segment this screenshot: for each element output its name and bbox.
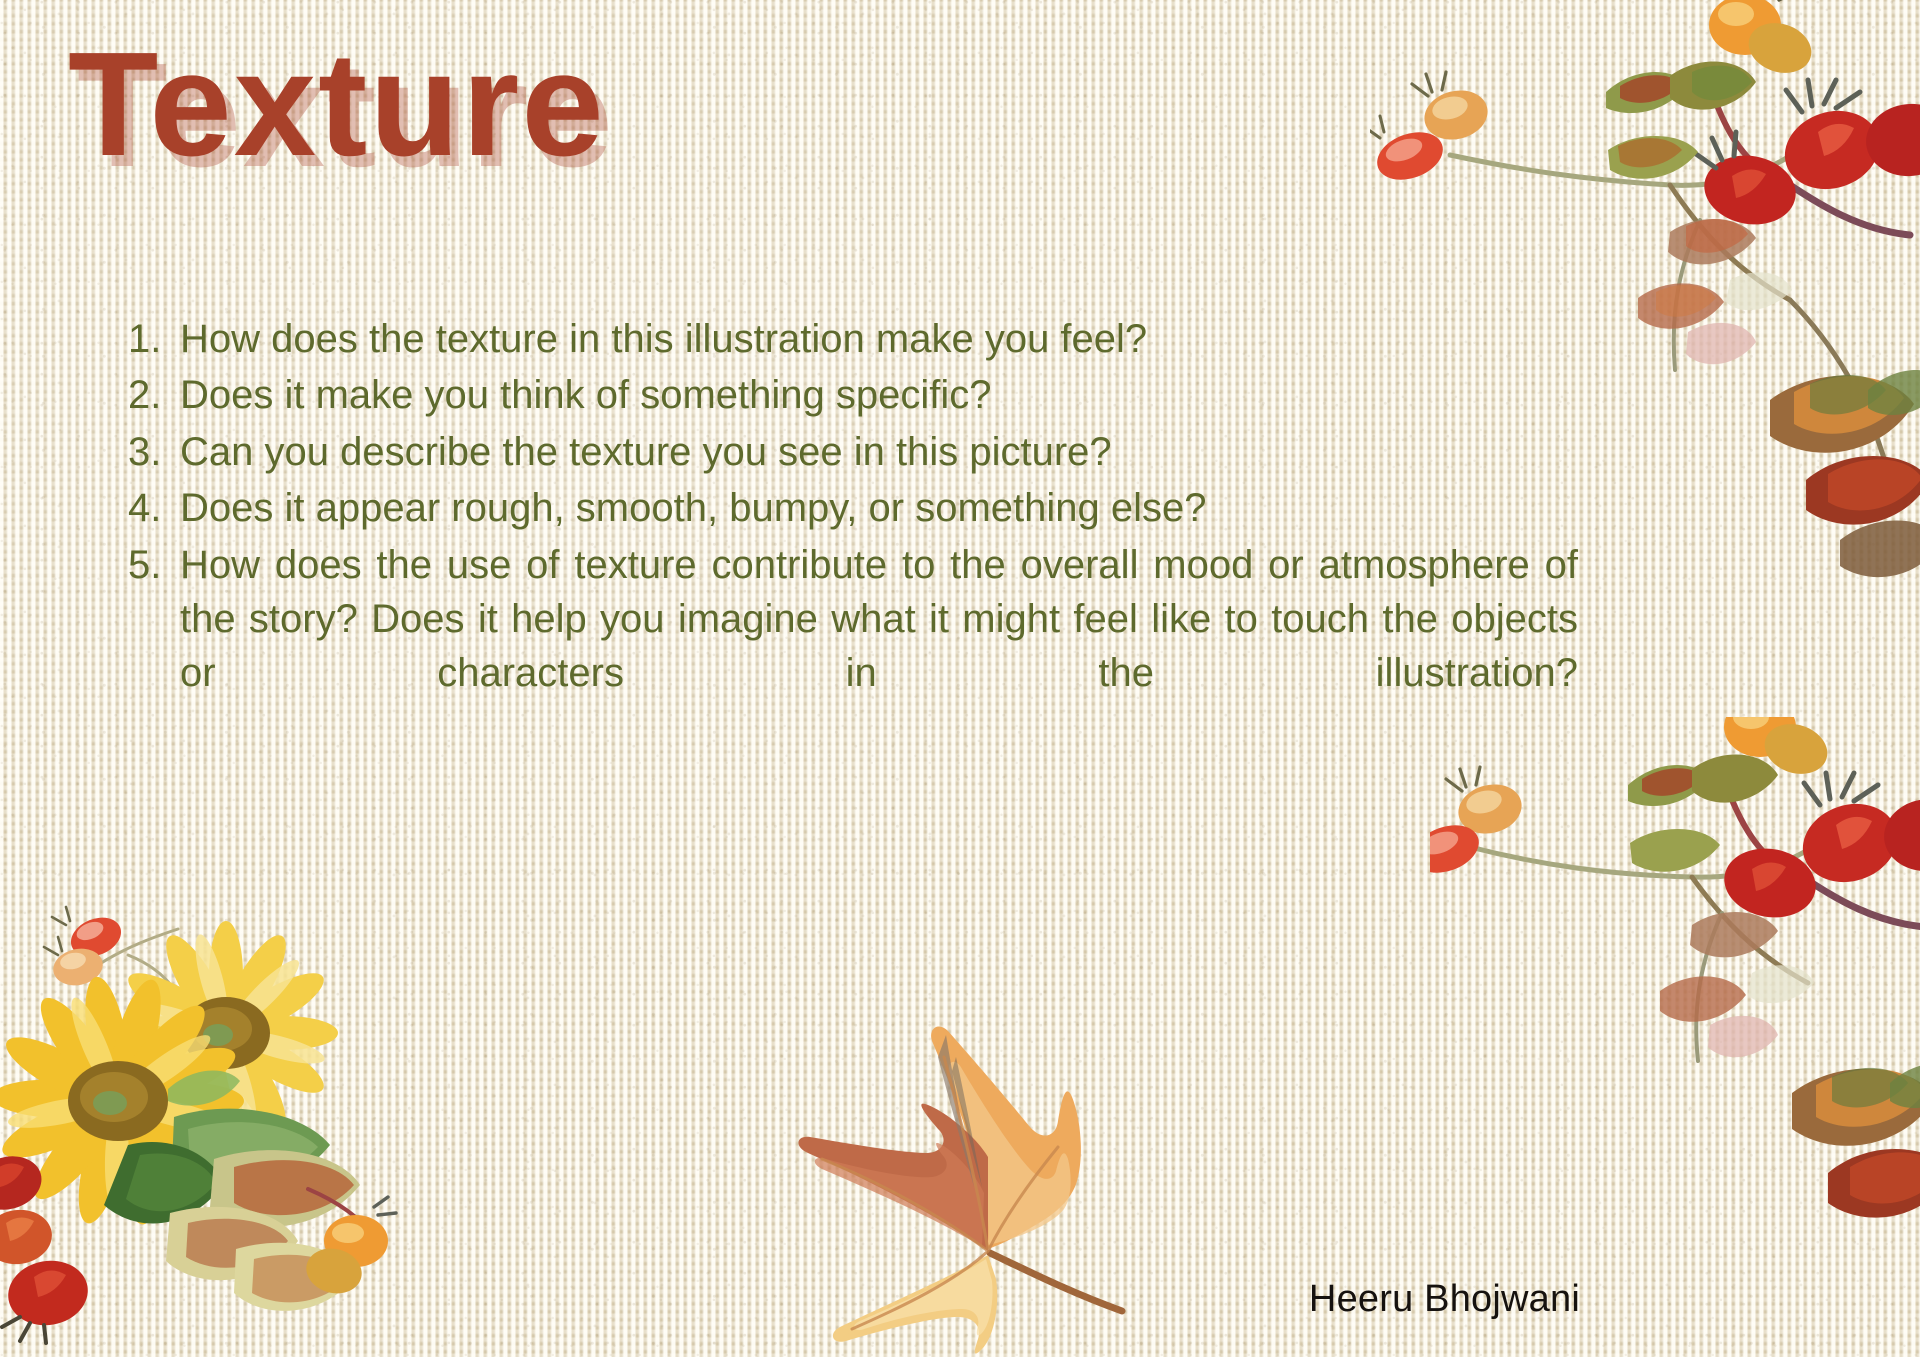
slide-canvas: Texture 1. How does the texture in this … (0, 0, 1920, 1357)
list-item-number: 4. (128, 481, 174, 535)
page-title: Texture (68, 22, 606, 188)
author-credit: Heeru Bhojwani (1309, 1278, 1580, 1321)
sunflower-bouquet-bottom-left-icon (0, 893, 418, 1357)
list-item-text: Can you describe the texture you see in … (180, 430, 1112, 474)
list-item: 5. How does the use of texture contribut… (128, 538, 1578, 756)
list-item-number: 5. (128, 538, 174, 592)
list-item-number: 2. (128, 368, 174, 422)
question-list: 1. How does the texture in this illustra… (128, 312, 1578, 757)
list-item-text: Does it appear rough, smooth, bumpy, or … (180, 486, 1206, 530)
list-item-number: 3. (128, 425, 174, 479)
list-item: 2. Does it make you think of something s… (128, 368, 1578, 422)
list-item: 1. How does the texture in this illustra… (128, 312, 1578, 366)
list-item: 3. Can you describe the texture you see … (128, 425, 1578, 479)
rose-hip-branch-bottom-right-icon (1430, 717, 1920, 1237)
autumn-maple-leaf-icon (660, 987, 1140, 1357)
list-item-text: Does it make you think of something spec… (180, 373, 992, 417)
list-item-text: How does the texture in this illustratio… (180, 317, 1147, 361)
list-item-number: 1. (128, 312, 174, 366)
list-item: 4. Does it appear rough, smooth, bumpy, … (128, 481, 1578, 535)
list-item-text: How does the use of texture contribute t… (180, 543, 1578, 750)
